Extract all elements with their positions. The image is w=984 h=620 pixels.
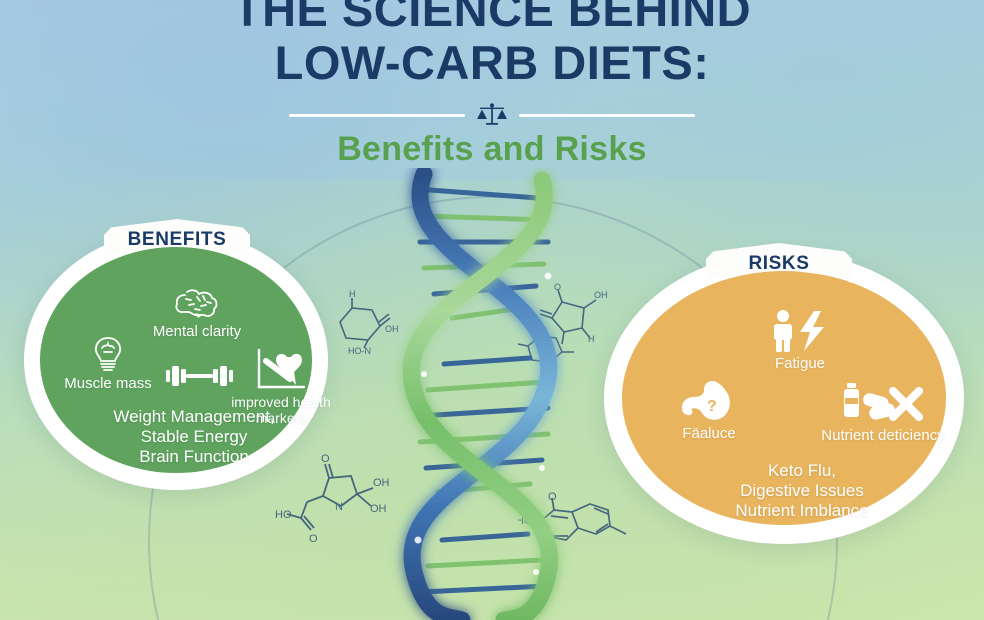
risks-banner-label: RISKS — [748, 253, 809, 275]
divider-rule-right — [519, 114, 695, 117]
benefits-banner-label: BENEFITS — [128, 229, 227, 251]
person-lightning-icon — [766, 309, 834, 353]
risks-circle-fill: Fatigue ? Fäaluce — [622, 271, 946, 525]
svg-text:O: O — [321, 453, 330, 465]
page-title-line2: LOW-CARB DIETS: — [0, 39, 984, 86]
benefits-banner: BENEFITS — [104, 219, 250, 261]
benefit-mental-clarity[interactable]: Mental clarity — [132, 287, 262, 340]
page-title-line1: THE SCIENCE BEHIND — [0, 0, 984, 33]
benefits-circle-fill: Mental clarity Muscle mass — [40, 247, 312, 473]
risk-label: Fäaluce — [634, 425, 784, 442]
balance-scale-icon — [475, 102, 509, 128]
dna-double-helix-icon — [352, 168, 616, 620]
risks-summary-line: Digestive Issues — [682, 481, 922, 501]
brain-icon — [173, 287, 221, 321]
benefits-summary-line: Brain Function — [84, 447, 304, 467]
benefits-summary-line: Weight Management, — [84, 407, 304, 427]
svg-text:?: ? — [707, 398, 717, 415]
risks-summary-line: Nutrient Imblance — [682, 501, 922, 521]
risk-fatigue[interactable]: Fatigue — [730, 309, 870, 372]
svg-text:N: N — [335, 501, 343, 513]
benefits-summary-line: Stable Energy — [84, 427, 304, 447]
page-subtitle: Benefits and Risks — [0, 130, 984, 169]
pills-crossed-icon — [841, 383, 925, 425]
title-divider — [0, 102, 984, 128]
lightbulb-icon — [91, 335, 125, 373]
risks-circle[interactable]: Fatigue ? Fäaluce — [604, 252, 964, 544]
stomach-question-icon: ? — [678, 379, 740, 423]
health-chart-icon — [254, 347, 308, 393]
benefits-summary: Weight Management, Stable Energy Brain F… — [84, 407, 304, 467]
benefit-muscle-mass[interactable]: Muscle mass — [48, 335, 168, 392]
risks-summary: Keto Flu, Digestive Issues Nutrient Imbl… — [682, 461, 922, 521]
divider-rule-left — [289, 114, 465, 117]
benefit-label: Muscle mass — [48, 375, 168, 392]
risks-banner: RISKS — [706, 243, 852, 285]
title-block: THE SCIENCE BEHIND LOW-CARB DIETS: Benef… — [0, 0, 984, 169]
risk-label: Nutrient deticiency — [798, 427, 968, 444]
risk-digestive[interactable]: ? Fäaluce — [634, 379, 784, 442]
svg-text:HO: HO — [275, 509, 292, 521]
benefits-circle[interactable]: Mental clarity Muscle mass — [24, 230, 328, 490]
svg-text:O: O — [309, 533, 318, 545]
risk-label: Fatigue — [730, 355, 870, 372]
risks-summary-line: Keto Flu, — [682, 461, 922, 481]
risk-nutrient-deficiency[interactable]: Nutrient deticiency — [798, 383, 968, 444]
